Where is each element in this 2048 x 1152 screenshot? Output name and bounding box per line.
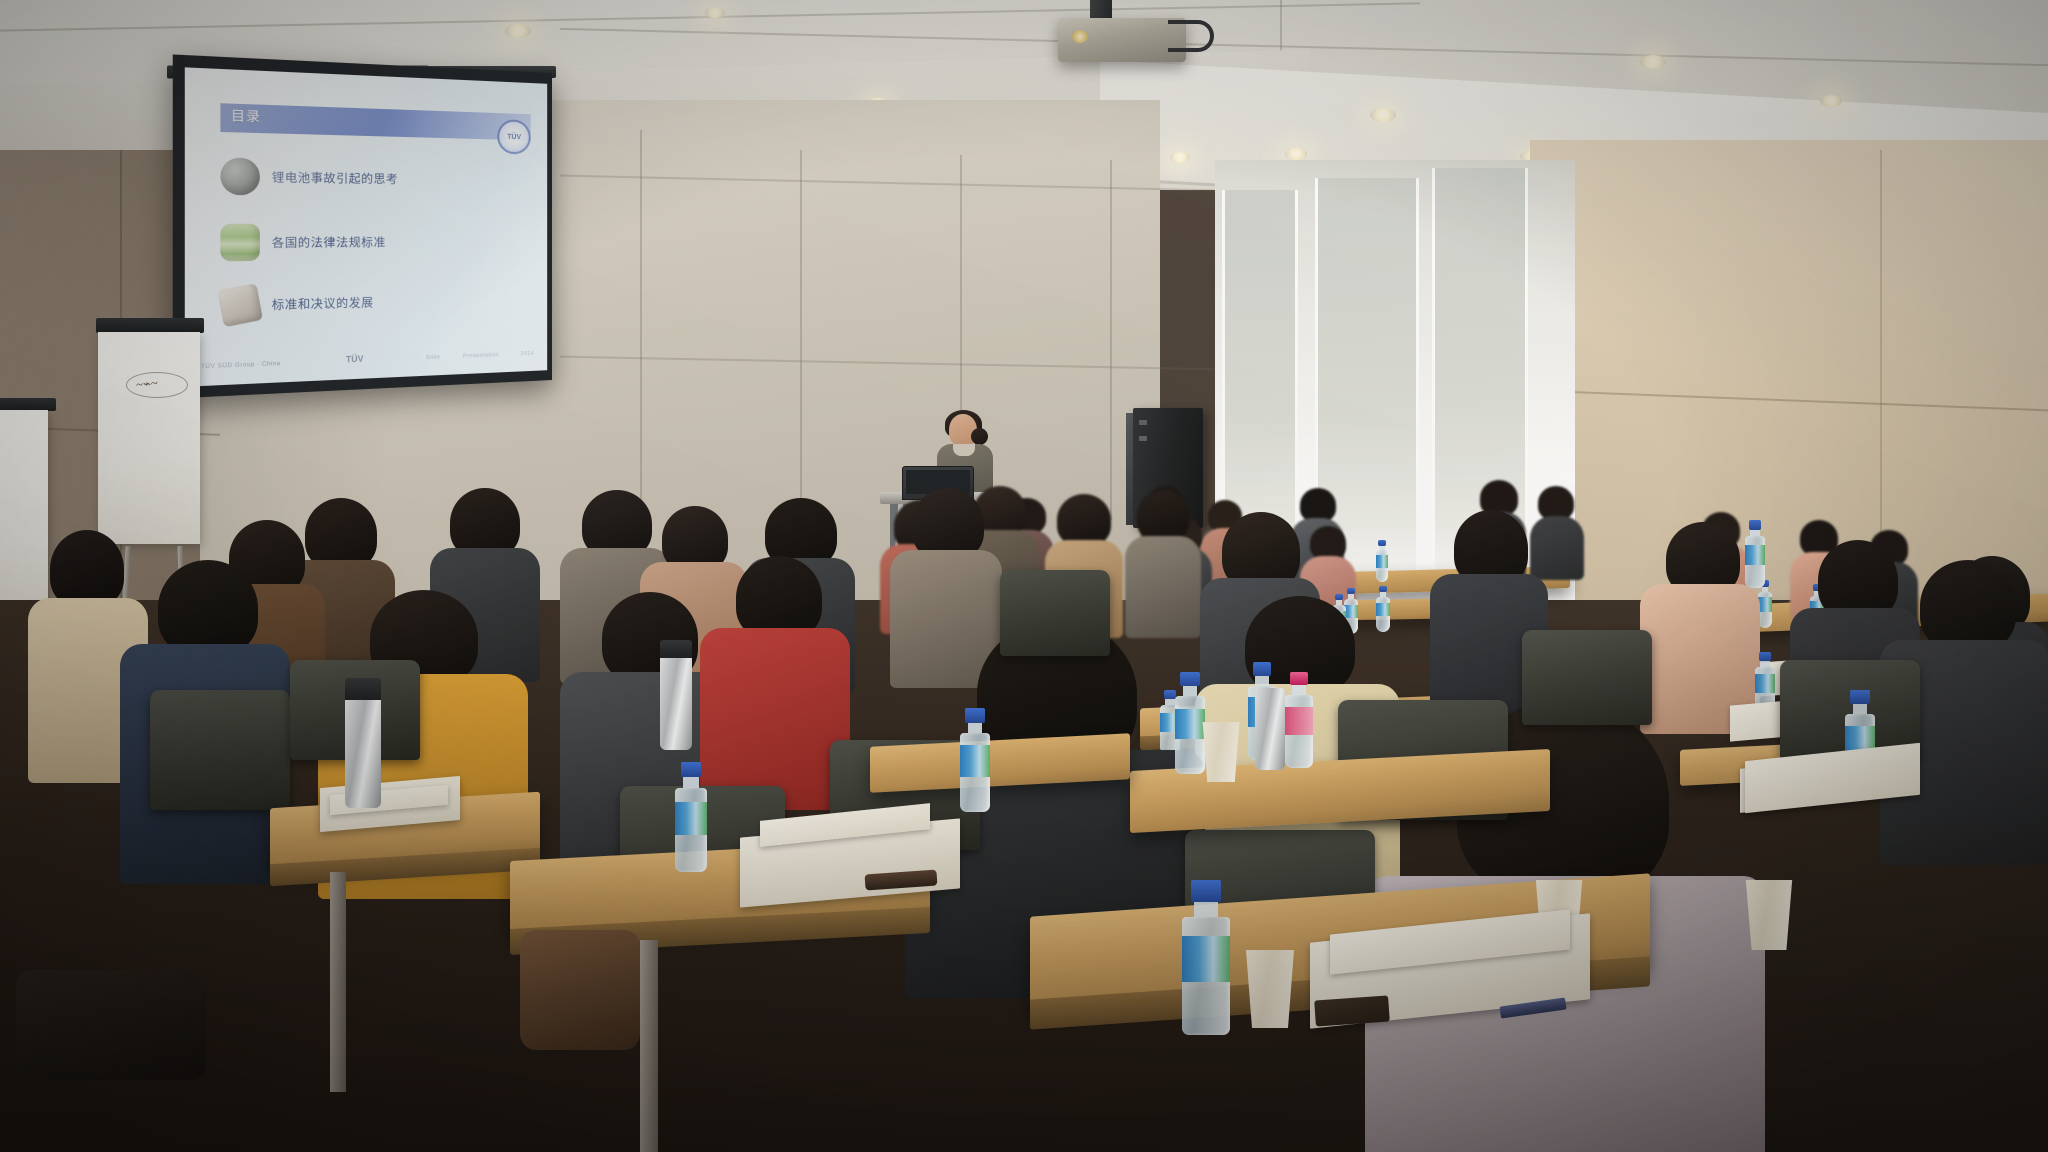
chair[interactable]: [1522, 630, 1652, 725]
water-bottle[interactable]: [960, 708, 990, 812]
slide-bullet-label: 标准和决议的发展: [272, 294, 374, 313]
bag: [16, 970, 206, 1080]
slide-title: 目录: [231, 106, 261, 126]
slide-footer-center: TÜV: [346, 354, 363, 364]
downlight: [505, 24, 531, 38]
slide-bullet-label: 锂电池事故引起的思考: [272, 168, 398, 187]
projector-lens-icon: [1072, 30, 1088, 43]
slide-title-bar: 目录: [221, 104, 531, 141]
slide-footer-left: TÜV SÜD Group · China: [201, 360, 281, 370]
slide-footer-item: 2014: [521, 350, 535, 357]
water-bottle[interactable]: [1285, 672, 1313, 768]
water-bottle[interactable]: [1182, 880, 1230, 1035]
sphere-icon: [221, 157, 260, 195]
presenter-collar: [953, 444, 975, 456]
slide-logo-text: TÜV: [507, 133, 521, 140]
chair[interactable]: [150, 690, 290, 810]
projection-screen: 目录 TÜV 锂电池事故引起的思考 各国的法律法规标准 标准和决议的发展 TÜV…: [173, 54, 552, 398]
downlight: [705, 8, 725, 18]
slide-bullet: 锂电池事故引起的思考: [221, 157, 398, 196]
table-leg: [640, 940, 658, 1152]
slide-bullet: 各国的法律法规标准: [221, 224, 386, 262]
water-bottle[interactable]: [675, 762, 707, 872]
thermos-flask[interactable]: [345, 690, 381, 808]
bag: [520, 930, 640, 1050]
slide-footer-item: Presentation: [463, 352, 499, 360]
remote-control[interactable]: [1314, 995, 1390, 1026]
wall-joint: [800, 150, 802, 530]
flipchart-sketch-circle: [126, 372, 188, 398]
slide-footer-right: Slide Presentation 2014: [426, 350, 534, 360]
projector-cable: [1168, 20, 1214, 52]
water-bottle[interactable]: [1376, 540, 1388, 582]
attendee: [1125, 490, 1201, 636]
table-leg: [330, 872, 346, 1092]
attendee: [700, 556, 850, 806]
thermos-cap-icon: [660, 640, 692, 658]
presenter-hair-bun: [971, 428, 988, 445]
slide-bullet-label: 各国的法律法规标准: [272, 233, 386, 251]
downlight: [1285, 148, 1307, 160]
thermos-flask[interactable]: [660, 650, 692, 750]
water-bottle[interactable]: [1745, 520, 1765, 588]
water-bottle[interactable]: [1175, 672, 1205, 774]
chair[interactable]: [1000, 570, 1110, 656]
wall-joint: [640, 130, 642, 530]
downlight: [1820, 95, 1842, 107]
downlight: [1370, 108, 1396, 122]
downlight: [1640, 55, 1666, 69]
downlight: [1170, 152, 1190, 163]
cylinder-icon: [221, 224, 260, 262]
slide-footer-item: Slide: [426, 354, 441, 361]
thermos-cap-icon: [345, 678, 381, 700]
wall-joint: [1110, 160, 1112, 520]
classroom-photo: 目录 TÜV 锂电池事故引起的思考 各国的法律法规标准 标准和决议的发展 TÜV…: [0, 0, 2048, 1152]
slide-logo-icon: TÜV: [497, 119, 530, 154]
slide-bullet: 标准和决议的发展: [221, 284, 374, 324]
thermos-flask[interactable]: [1255, 688, 1285, 770]
prism-icon: [218, 284, 264, 328]
slide-footer: TÜV SÜD Group · China TÜV Slide Presenta…: [201, 347, 534, 370]
